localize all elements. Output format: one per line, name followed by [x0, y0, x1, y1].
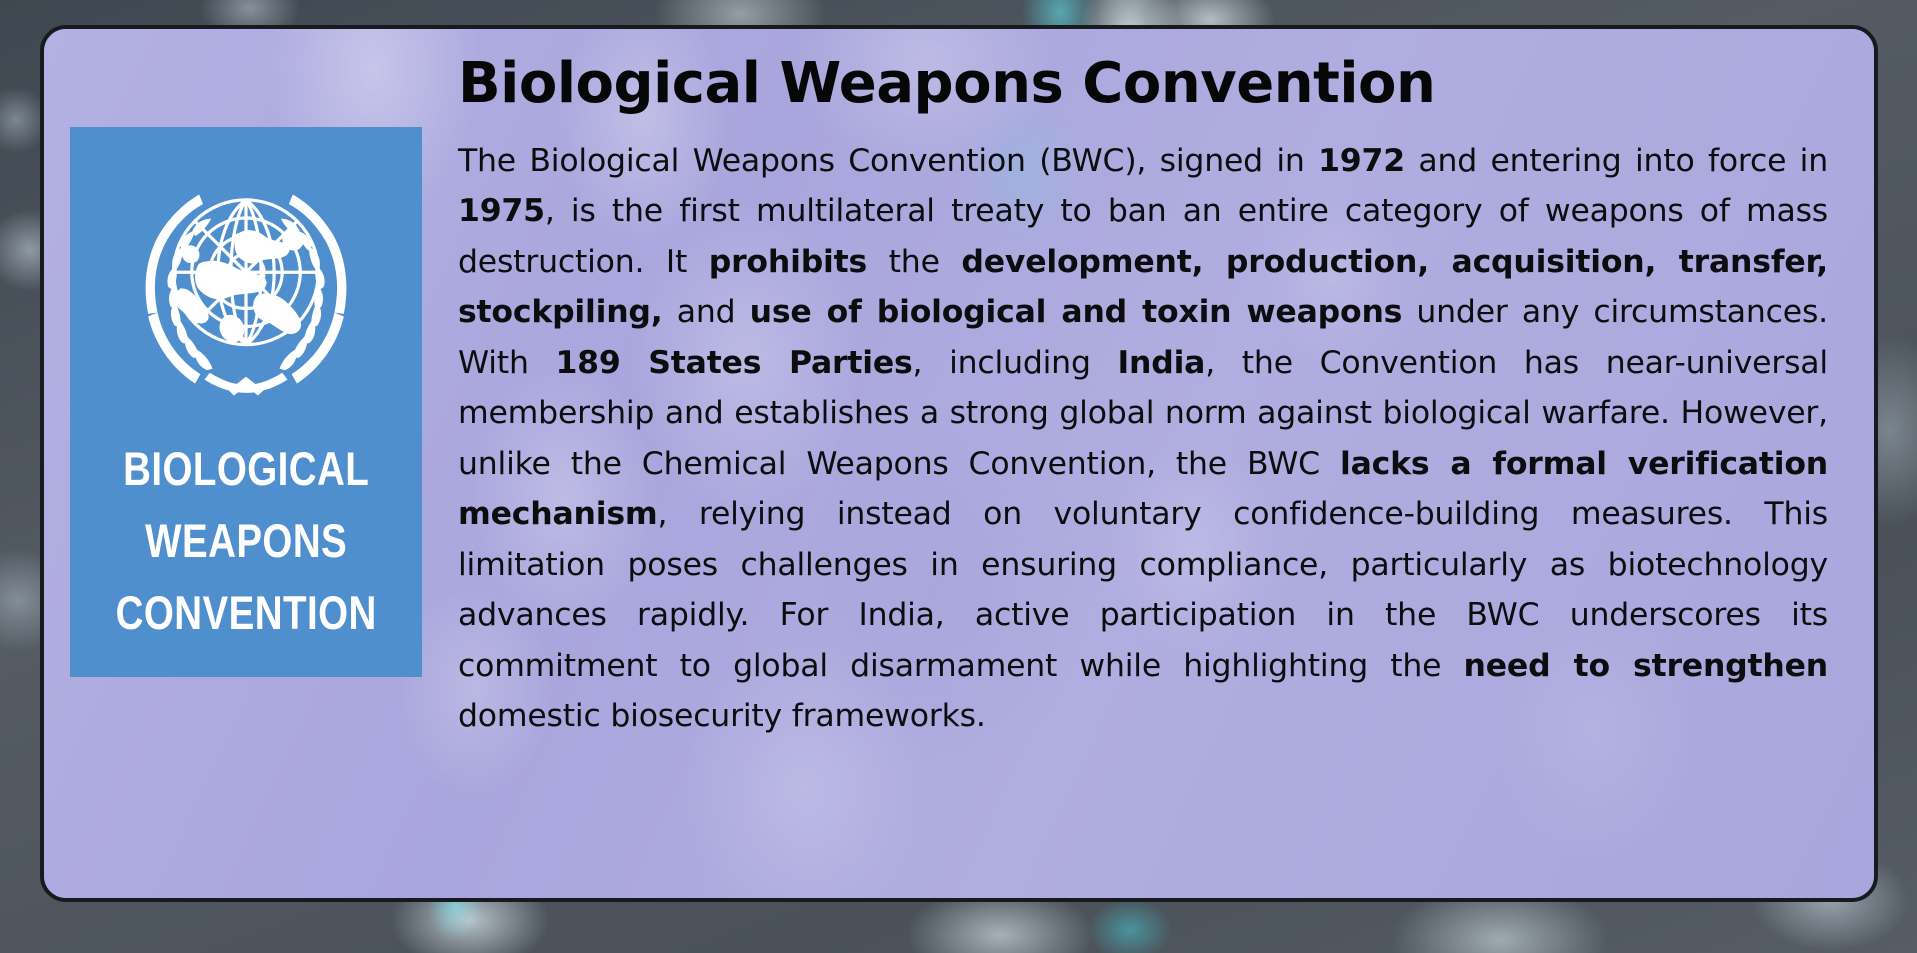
- article-emphasis: 1972: [1318, 143, 1405, 179]
- article-text-run: the: [867, 244, 961, 280]
- poster-line-1: BIOLOGICAL: [115, 433, 376, 505]
- poster-caption: BIOLOGICAL WEAPONS CONVENTION: [115, 433, 376, 649]
- article-emphasis: use of biological and toxin weapons: [750, 294, 1403, 330]
- un-emblem-icon: [112, 149, 380, 417]
- bwc-poster-image: BIOLOGICAL WEAPONS CONVENTION: [70, 127, 422, 677]
- card-content: BIOLOGICAL WEAPONS CONVENTION Biological…: [44, 29, 1874, 898]
- poster-line-3: CONVENTION: [115, 577, 376, 649]
- article-text-run: domestic biosecurity frameworks.: [458, 698, 986, 734]
- content-card: BIOLOGICAL WEAPONS CONVENTION Biological…: [40, 25, 1878, 902]
- article-text-run: , including: [913, 345, 1118, 381]
- article-emphasis: 189 States Parties: [555, 345, 912, 381]
- article-emphasis: prohibits: [709, 244, 867, 280]
- article-body: The Biological Weapons Convention (BWC),…: [458, 136, 1828, 742]
- article-emphasis: India: [1117, 345, 1205, 381]
- article-text-run: and: [663, 294, 750, 330]
- poster-line-2: WEAPONS: [115, 505, 376, 577]
- article-column: Biological Weapons Convention The Biolog…: [422, 43, 1828, 884]
- poster-column: BIOLOGICAL WEAPONS CONVENTION: [70, 43, 422, 884]
- article-emphasis: 1975: [458, 193, 545, 229]
- article-text-run: The Biological Weapons Convention (BWC),…: [458, 143, 1318, 179]
- article-text-run: and entering into force in: [1405, 143, 1828, 179]
- page-title: Biological Weapons Convention: [458, 55, 1828, 114]
- article-emphasis: need to strengthen: [1464, 648, 1828, 684]
